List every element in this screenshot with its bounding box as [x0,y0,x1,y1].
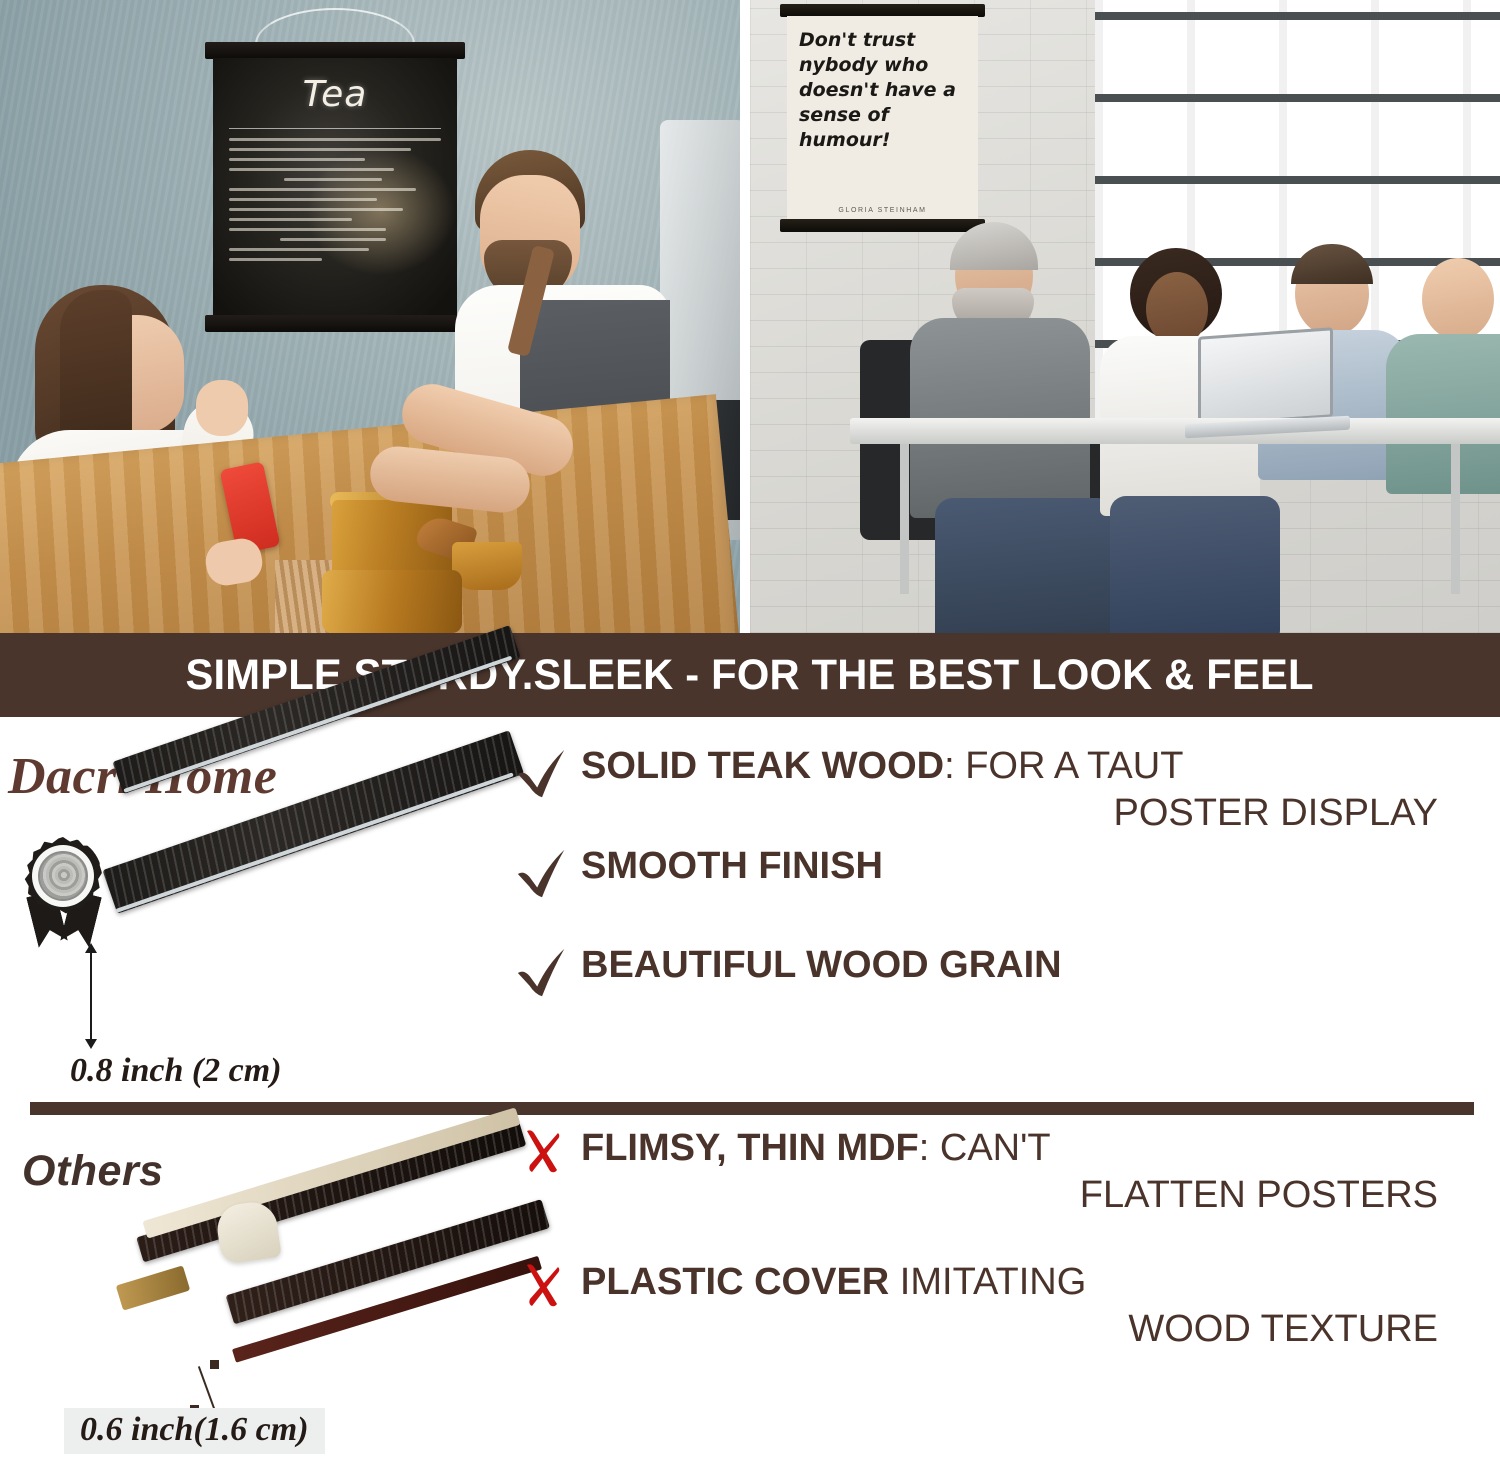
comparison-row-ours: Dacri Home 0.8 inch (2 cm) [0,717,1500,1102]
feature-line-1: SOLID TEAK WOOD: FOR A TAUT [581,743,1500,790]
check-icon-svg [514,944,572,1002]
others-visual: Others 0.6 inch(1.6 cm) [0,1117,505,1484]
feature-item: BEAUTIFUL WOOD GRAIN [505,942,1500,1007]
feature-text: SOLID TEAK WOOD: FOR A TAUT POSTER DISPL… [581,743,1500,837]
quote-author: GLORIA STEINHAM [787,207,978,214]
hanging-quote-poster: Don't trust nybody who doesn't have a se… [780,4,985,232]
feature-headline: BEAUTIFUL WOOD GRAIN [581,944,1062,986]
quote-poster-bottom-rail [780,219,985,232]
feature-text: FLIMSY, THIN MDF: CAN'T FLATTEN POSTERS [581,1125,1500,1219]
meeting-table [850,418,1500,444]
headline-banner: SIMPLE.STURDY.SLEEK - FOR THE BEST LOOK … [0,633,1500,717]
check-icon [505,942,581,1007]
brass-kettle-base [322,570,462,633]
feature-headline: SOLID TEAK WOOD [581,745,944,787]
meeting-table-legs [900,444,1460,594]
quote-text: Don't trust nybody who doesn't have a se… [799,28,968,153]
section-divider [30,1102,1474,1115]
check-icon [505,843,581,908]
feature-detail: : FOR A TAUT [944,745,1183,787]
feature-line-2: FLATTEN POSTERS [581,1172,1500,1219]
feature-item: SOLID TEAK WOOD: FOR A TAUT POSTER DISPL… [505,743,1500,837]
award-rosette-icon [18,835,110,943]
mdf-slat-upper-wood [142,1107,520,1238]
feature-item: FLIMSY, THIN MDF: CAN'T FLATTEN POSTERS [505,1125,1500,1219]
chalkboard-surface: Tea [213,58,457,316]
feature-line-1: FLIMSY, THIN MDF: CAN'T [581,1125,1500,1172]
feature-line-2: WOOD TEXTURE [581,1306,1500,1353]
feature-headline: SMOOTH FINISH [581,845,883,887]
feature-headline: FLIMSY, THIN MDF [581,1127,919,1169]
laptop-screen [1198,327,1333,426]
poster-bottom-rail [205,315,465,332]
feature-line-2: POSTER DISPLAY [581,790,1500,837]
feature-headline: PLASTIC COVER [581,1261,889,1303]
feature-detail: : CAN'T [919,1127,1051,1169]
feature-line-1: BEAUTIFUL WOOD GRAIN [581,942,1500,989]
feature-text: SMOOTH FINISH [581,843,1500,890]
others-label: Others [22,1147,164,1196]
ours-feature-list: SOLID TEAK WOOD: FOR A TAUT POSTER DISPL… [505,717,1500,1102]
photo-divider [740,0,750,633]
feature-text: PLASTIC COVER IMITATING WOOD TEXTURE [581,1259,1500,1353]
chalkboard-rule [229,128,441,129]
cross-icon-svg [521,1261,565,1311]
feature-line-1: SMOOTH FINISH [581,843,1500,890]
feature-item: SMOOTH FINISH [505,843,1500,908]
feature-item: PLASTIC COVER IMITATING WOOD TEXTURE [505,1259,1500,1353]
comparison-row-others: Others 0.6 inch(1.6 cm) [0,1117,1500,1484]
dimension-leader-dot-top [210,1360,219,1369]
feature-line-1: PLASTIC COVER IMITATING [581,1259,1500,1306]
hanging-chalkboard-poster: Tea [205,42,465,332]
dimension-label-ours: 0.8 inch (2 cm) [70,1052,282,1090]
photo-strip: Tea [0,0,1500,633]
photo-office-meeting: Don't trust nybody who doesn't have a se… [750,0,1500,633]
photo-cafe-scene: Tea [0,0,740,633]
dimension-leader-line [198,1366,216,1412]
check-icon-svg [514,845,572,903]
thickness-arrow-ours [90,952,92,1040]
mdf-slat-upper-tip [116,1265,191,1310]
cross-icon [505,1259,581,1316]
chalkboard-title: Tea [213,74,457,115]
poster-top-rail [205,42,465,59]
cross-icon [505,1125,581,1182]
brass-cup [452,542,522,590]
woman-hand-upper [196,380,248,436]
quote-poster-sheet: Don't trust nybody who doesn't have a se… [787,16,978,220]
feature-text: BEAUTIFUL WOOD GRAIN [581,942,1500,989]
cross-icon-svg [521,1127,565,1177]
comparison-section: Dacri Home 0.8 inch (2 cm) [0,717,1500,1484]
ours-visual: Dacri Home 0.8 inch (2 cm) [0,717,505,1102]
dimension-label-others: 0.6 inch(1.6 cm) [64,1408,325,1454]
check-icon-svg [514,745,572,803]
rosette-wood-center [38,851,88,901]
others-feature-list: FLIMSY, THIN MDF: CAN'T FLATTEN POSTERS … [505,1117,1500,1484]
check-icon [505,743,581,808]
feature-detail: IMITATING [889,1261,1086,1303]
chalkboard-menu-lines [229,138,441,294]
